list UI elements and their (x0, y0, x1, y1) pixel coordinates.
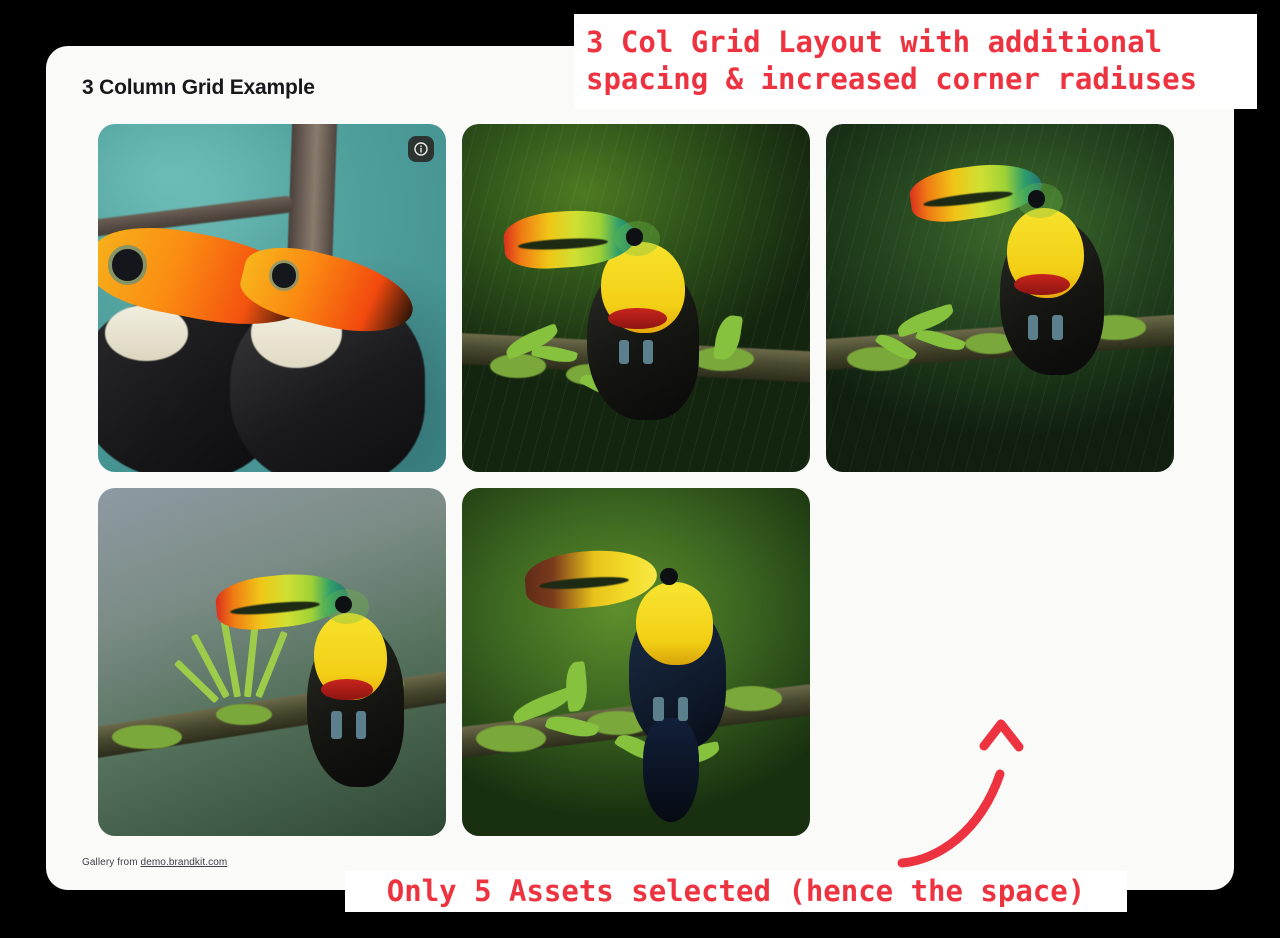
asset-tile-1[interactable] (98, 124, 446, 472)
annotation-bottom: Only 5 Assets selected (hence the space) (345, 871, 1127, 912)
asset-tile-5[interactable] (462, 488, 810, 836)
gallery-footer: Gallery from demo.brandkit.com (82, 857, 227, 868)
gallery-source-link[interactable]: demo.brandkit.com (141, 857, 228, 868)
asset-image-1 (98, 124, 446, 472)
gallery-footer-label: Gallery from (82, 857, 141, 868)
curved-arrow-icon (880, 700, 1060, 880)
page-title: 3 Column Grid Example (82, 76, 315, 100)
annotation-top: 3 Col Grid Layout with additional spacin… (574, 14, 1257, 109)
asset-tile-2[interactable] (462, 124, 810, 472)
asset-tile-3[interactable] (826, 124, 1174, 472)
asset-image-5 (462, 488, 810, 836)
asset-tile-4[interactable] (98, 488, 446, 836)
asset-image-3 (826, 124, 1174, 472)
info-circle-icon[interactable] (408, 136, 434, 162)
asset-image-4 (98, 488, 446, 836)
asset-image-2 (462, 124, 810, 472)
